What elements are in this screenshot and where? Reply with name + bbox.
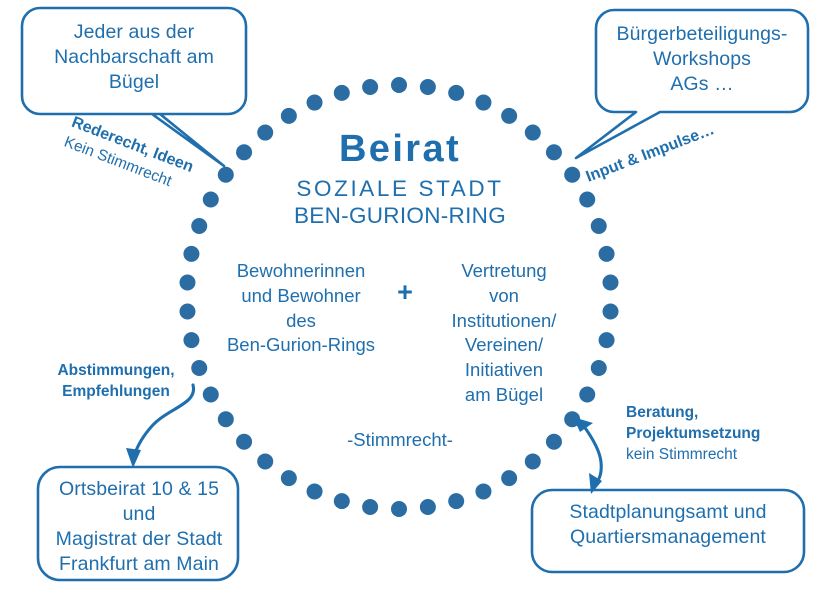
ring-dot [203, 191, 219, 207]
ring-dot [603, 275, 619, 291]
ring-dot [334, 85, 350, 101]
ring-dot [218, 411, 234, 427]
ring-dot [599, 332, 615, 348]
ring-dot [307, 95, 323, 111]
ring-dot [236, 434, 252, 450]
caption-beratung: Beratung,Projektumsetzung kein Stimmrech… [626, 403, 786, 466]
ring-members-residents: Bewohnerinnenund BewohnerdesBen-Gurion-R… [212, 259, 390, 358]
ring-dot [257, 453, 273, 469]
ring-dot [179, 275, 195, 291]
ring-dot [420, 499, 436, 515]
voting-rights-note: -Stimmrecht- [300, 429, 500, 451]
plus-icon: + [390, 277, 420, 308]
ring-members-institutions: VertretungvonInstitutionen/Vereinen/Init… [420, 259, 588, 408]
ring-dot [334, 493, 350, 509]
caption-beratung-regular: kein Stimmrecht [626, 445, 786, 466]
ring-dot [591, 360, 607, 376]
ring-dot [501, 470, 517, 486]
ring-dot [579, 191, 595, 207]
ring-dot [564, 167, 580, 183]
diagram-canvas: Jeder aus derNachbarschaft amBügel Bürge… [0, 0, 820, 600]
box-bottom-right-text: Stadtplanungsamt undQuartiersmanagement [540, 500, 796, 550]
caption-beratung-bold: Beratung,Projektumsetzung [626, 403, 786, 445]
caption-abstimmungen: Abstimmungen,Empfehlungen [36, 361, 196, 403]
page-title: Beirat [250, 128, 550, 171]
ring-dot [307, 483, 323, 499]
ring-dot [391, 501, 407, 517]
ring-dot [591, 218, 607, 234]
ring-dot [420, 79, 436, 95]
ring-dot [448, 85, 464, 101]
page-subtitle-1: SOZIALE STADT [250, 176, 550, 202]
bubble-top-left-text: Jeder aus derNachbarschaft amBügel [30, 20, 238, 95]
ring-dot [546, 434, 562, 450]
ring-dot [448, 493, 464, 509]
page-subtitle-2: BEN-GURION-RING [250, 203, 550, 229]
ring-dot [281, 108, 297, 124]
ring-dot [599, 246, 615, 262]
box-bottom-left-text: Ortsbeirat 10 & 15undMagistrat der Stadt… [44, 477, 234, 577]
bubble-top-right-text: Bürgerbeteiligungs-WorkshopsAGs … [604, 22, 800, 97]
ring-dot [525, 453, 541, 469]
arrow-beratung [573, 417, 602, 494]
ring-dot [475, 483, 491, 499]
ring-dot [183, 332, 199, 348]
ring-dot [603, 303, 619, 319]
ring-dot [183, 246, 199, 262]
ring-dot [391, 77, 407, 93]
ring-dot [475, 95, 491, 111]
ring-dot [191, 218, 207, 234]
ring-dot [179, 303, 195, 319]
ring-dot [501, 108, 517, 124]
ring-dot [362, 499, 378, 515]
ring-dot [362, 79, 378, 95]
ring-dot [218, 167, 234, 183]
ring-dot [281, 470, 297, 486]
ring-dot [203, 387, 219, 403]
